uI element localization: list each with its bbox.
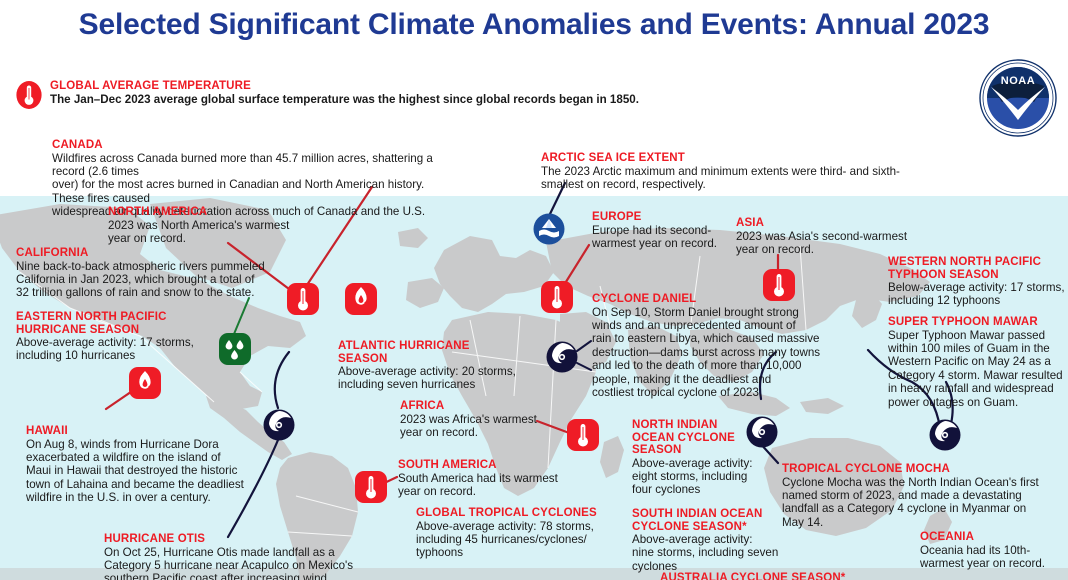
thermometer-icon [540, 280, 574, 314]
annotation-atlantic-hurricane-season: ATLANTIC HURRICANE SEASON Above-average … [338, 340, 538, 392]
annotation-heading: CANADA [52, 139, 452, 152]
annotation-california: CALIFORNIA Nine back-to-back atmospheric… [16, 247, 266, 300]
annotation-heading: TROPICAL CYCLONE MOCHA [782, 463, 1052, 476]
annotation-heading: ASIA [736, 217, 916, 230]
cyclone-icon [928, 418, 962, 452]
annotation-australia-cyclone-season: AUSTRALIA CYCLONE SEASON* [660, 572, 940, 580]
annotation-heading: AUSTRALIA CYCLONE SEASON* [660, 572, 940, 580]
annotation-body: Oceania had its 10th- warmest year on re… [920, 544, 1068, 571]
annotation-body: On Aug 8, winds from Hurricane Dora exac… [26, 438, 266, 505]
annotation-body: On Sep 10, Storm Daniel brought strong w… [592, 306, 822, 400]
annotation-heading: GLOBAL TROPICAL CYCLONES [416, 507, 616, 520]
annotation-heading: HAWAII [26, 425, 266, 438]
annotation-tropical-cyclone-mocha: TROPICAL CYCLONE MOCHA Cyclone Mocha was… [782, 463, 1052, 529]
annotation-eastern-north-pacific-hurricane-season: EASTERN NORTH PACIFIC HURRICANE SEASON A… [16, 311, 236, 363]
annotation-body: Super Typhoon Mawar passed within 100 mi… [888, 329, 1068, 409]
annotation-heading: ARCTIC SEA ICE EXTENT [541, 152, 941, 165]
annotation-body: Cyclone Mocha was the North Indian Ocean… [782, 476, 1052, 530]
annotation-heading: NORTH AMERICA [108, 206, 318, 219]
annotation-asia: ASIA 2023 was Asia's second-warmest year… [736, 217, 916, 256]
annotation-body: 2023 was Africa's warmest year on record… [400, 413, 550, 440]
annotation-body: The 2023 Arctic maximum and minimum exte… [541, 165, 941, 192]
annotation-heading: ATLANTIC HURRICANE SEASON [338, 340, 538, 365]
annotation-heading: HURRICANE OTIS [104, 533, 384, 546]
page-title: Selected Significant Climate Anomalies a… [0, 8, 1068, 42]
annotation-oceania: OCEANIA Oceania had its 10th- warmest ye… [920, 531, 1068, 570]
annotation-heading: WESTERN NORTH PACIFIC TYPHOON SEASON [888, 256, 1068, 281]
cyclone-icon [545, 340, 579, 374]
flame-icon [344, 282, 378, 316]
annotation-body: 2023 was North America's warmest year on… [108, 219, 318, 246]
annotation-super-typhoon-mawar: SUPER TYPHOON MAWAR Super Typhoon Mawar … [888, 316, 1068, 409]
annotation-body: Nine back-to-back atmospheric rivers pum… [16, 260, 266, 300]
annotation-heading: SOUTH INDIAN OCEAN CYCLONE SEASON* [632, 508, 792, 533]
flame-icon [128, 366, 162, 400]
global-average-temperature-body: The Jan–Dec 2023 average global surface … [50, 93, 639, 106]
annotation-heading: AFRICA [400, 400, 550, 413]
annotation-north-america: NORTH AMERICA 2023 was North America's w… [108, 206, 318, 245]
annotation-body: On Oct 25, Hurricane Otis made landfall … [104, 546, 384, 580]
annotation-north-indian-ocean-cyclone-season: NORTH INDIAN OCEAN CYCLONE SEASON Above-… [632, 419, 772, 497]
annotation-south-indian-ocean-cyclone-season: SOUTH INDIAN OCEAN CYCLONE SEASON* Above… [632, 508, 792, 573]
annotation-heading: SOUTH AMERICA [398, 459, 578, 472]
annotation-body: Above-average activity: 78 storms, inclu… [416, 520, 616, 560]
annotation-europe: EUROPE Europe had its second- warmest ye… [592, 211, 722, 250]
annotation-body: Above-average activity: 20 storms, inclu… [338, 365, 538, 392]
annotation-heading: OCEANIA [920, 531, 1068, 544]
annotation-body: Above-average activity: eight storms, in… [632, 457, 772, 497]
thermometer-icon [286, 282, 320, 316]
annotation-body: 2023 was Asia's second-warmest year on r… [736, 230, 916, 257]
annotation-heading: SUPER TYPHOON MAWAR [888, 316, 1068, 329]
annotation-heading: NORTH INDIAN OCEAN CYCLONE SEASON [632, 419, 772, 457]
annotation-heading: EUROPE [592, 211, 722, 224]
global-average-temperature-heading: GLOBAL AVERAGE TEMPERATURE [50, 80, 639, 93]
annotation-arctic-sea-ice-extent: ARCTIC SEA ICE EXTENT The 2023 Arctic ma… [541, 152, 941, 191]
annotation-western-north-pacific-typhoon-season: WESTERN NORTH PACIFIC TYPHOON SEASON Bel… [888, 256, 1068, 308]
annotation-south-america: SOUTH AMERICA South America had its warm… [398, 459, 578, 498]
annotation-heading: CALIFORNIA [16, 247, 266, 260]
annotation-cyclone-daniel: CYCLONE DANIEL On Sep 10, Storm Daniel b… [592, 293, 822, 399]
annotation-heading: CYCLONE DANIEL [592, 293, 822, 306]
infographic-root: Selected Significant Climate Anomalies a… [0, 0, 1068, 580]
annotation-hurricane-otis: HURRICANE OTIS On Oct 25, Hurricane Otis… [104, 533, 384, 580]
annotation-body: Below-average activity: 17 storms, inclu… [888, 281, 1068, 308]
annotation-body: Above-average activity: 17 storms, inclu… [16, 336, 236, 363]
thermometer-icon [354, 470, 388, 504]
annotation-global-tropical-cyclones: GLOBAL TROPICAL CYCLONES Above-average a… [416, 507, 616, 560]
cyclone-icon [262, 408, 296, 442]
iceberg-icon [532, 212, 566, 246]
svg-text:NOAA: NOAA [1001, 75, 1035, 87]
annotation-heading: EASTERN NORTH PACIFIC HURRICANE SEASON [16, 311, 236, 336]
annotation-body: Above-average activity: nine storms, inc… [632, 533, 792, 573]
annotation-body: South America had its warmest year on re… [398, 472, 578, 499]
thermometer-icon [16, 81, 42, 109]
annotation-hawaii: HAWAII On Aug 8, winds from Hurricane Do… [26, 425, 266, 505]
thermometer-icon [566, 418, 600, 452]
noaa-logo: NOAA [978, 58, 1058, 138]
annotation-body: Europe had its second- warmest year on r… [592, 224, 722, 251]
annotation-africa: AFRICA 2023 was Africa's warmest year on… [400, 400, 550, 439]
global-average-temperature-block: GLOBAL AVERAGE TEMPERATURE The Jan–Dec 2… [16, 80, 639, 109]
